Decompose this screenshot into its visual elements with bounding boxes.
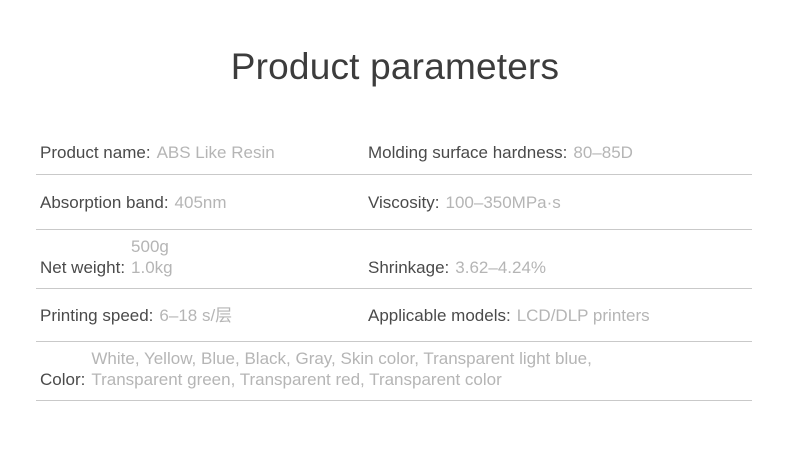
table-row-color: Color: White, Yellow, Blue, Black, Gray,…	[36, 342, 752, 401]
parameter-field: Shrinkage: 3.62–4.24%	[368, 257, 752, 278]
table-row: Product name: ABS Like Resin Molding sur…	[36, 131, 752, 175]
table-cell-right: Viscosity: 100–350MPa·s	[368, 192, 752, 213]
table-cell-right: Applicable models: LCD/DLP printers	[368, 305, 752, 326]
parameter-field: Net weight: 500g 1.0kg	[40, 236, 368, 278]
parameter-value: 3.62–4.24%	[455, 257, 546, 278]
parameter-label: Printing speed:	[40, 305, 153, 326]
parameter-label: Shrinkage:	[368, 257, 449, 278]
parameter-field: Viscosity: 100–350MPa·s	[368, 192, 752, 213]
table-row: Net weight: 500g 1.0kg Shrinkage: 3.62–4…	[36, 230, 752, 289]
table-cell-right: Shrinkage: 3.62–4.24%	[368, 257, 752, 278]
parameter-value: 6–18 s/层	[159, 305, 232, 326]
parameter-label: Color:	[40, 369, 85, 390]
parameters-table: Product name: ABS Like Resin Molding sur…	[36, 131, 752, 401]
parameter-field: Product name: ABS Like Resin	[40, 142, 368, 163]
parameter-value-stack: 500g 1.0kg	[131, 236, 173, 278]
parameter-value: 1.0kg	[131, 257, 173, 278]
parameter-label: Net weight:	[40, 257, 125, 278]
table-cell-left: Product name: ABS Like Resin	[36, 142, 368, 163]
parameter-field: Printing speed: 6–18 s/层	[40, 305, 368, 326]
parameter-value: 500g	[131, 236, 173, 257]
product-parameters-page: Product parameters Product name: ABS Lik…	[0, 0, 790, 449]
parameter-field: Absorption band: 405nm	[40, 192, 368, 213]
parameter-field: Applicable models: LCD/DLP printers	[368, 305, 752, 326]
parameter-value: 405nm	[175, 192, 227, 213]
page-title: Product parameters	[0, 47, 790, 88]
table-cell-right: Molding surface hardness: 80–85D	[368, 142, 752, 163]
parameter-value-stack: White, Yellow, Blue, Black, Gray, Skin c…	[91, 348, 592, 390]
table-cell-left: Net weight: 500g 1.0kg	[36, 236, 368, 278]
table-row: Printing speed: 6–18 s/层 Applicable mode…	[36, 289, 752, 342]
parameter-value: 100–350MPa·s	[446, 192, 561, 213]
table-row: Absorption band: 405nm Viscosity: 100–35…	[36, 175, 752, 230]
parameter-label: Applicable models:	[368, 305, 511, 326]
parameter-value: LCD/DLP printers	[517, 305, 650, 326]
parameter-label: Viscosity:	[368, 192, 440, 213]
parameter-value: 80–85D	[573, 142, 633, 163]
parameter-label: Product name:	[40, 142, 151, 163]
parameter-value: White, Yellow, Blue, Black, Gray, Skin c…	[91, 348, 592, 369]
table-cell-left: Absorption band: 405nm	[36, 192, 368, 213]
parameter-field: Molding surface hardness: 80–85D	[368, 142, 752, 163]
parameter-label: Molding surface hardness:	[368, 142, 567, 163]
parameter-field: Color: White, Yellow, Blue, Black, Gray,…	[36, 348, 752, 390]
parameter-label: Absorption band:	[40, 192, 169, 213]
parameter-value: ABS Like Resin	[157, 142, 275, 163]
parameter-value: Transparent green, Transparent red, Tran…	[91, 369, 592, 390]
table-cell-left: Printing speed: 6–18 s/层	[36, 305, 368, 326]
